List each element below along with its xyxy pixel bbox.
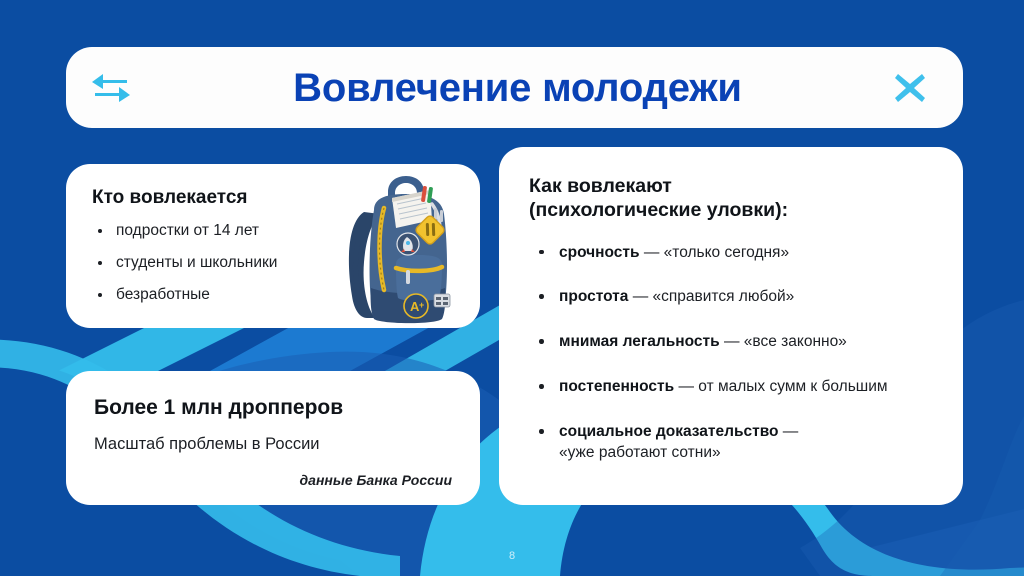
- page-number: 8: [0, 550, 1024, 562]
- svg-text:+: +: [419, 300, 424, 310]
- card-stat-subtitle: Масштаб проблемы в России: [94, 434, 452, 455]
- list-item-term: постепенность: [559, 378, 674, 395]
- list-item-rest: — от малых сумм к большим: [674, 378, 887, 395]
- list-item: срочность — «только сегодня»: [529, 243, 933, 264]
- list-item-term: социальное доказательство: [559, 423, 778, 440]
- card-how-title-line1: Как вовлекают: [529, 175, 672, 197]
- card-stat-source: данные Банка России: [94, 472, 452, 488]
- card-how-title-line2: (психологические уловки):: [529, 199, 788, 221]
- slide-header-bar: Вовлечение молодежи: [66, 47, 963, 128]
- card-statistic: Более 1 млн дропперов Масштаб проблемы в…: [66, 371, 480, 505]
- card-how-list: срочность — «только сегодня» простота — …: [529, 243, 933, 465]
- list-item: постепенность — от малых сумм к большим: [529, 377, 933, 398]
- list-item: мнимая легальность — «все законно»: [529, 332, 933, 353]
- transfer-arrows-icon[interactable]: [88, 68, 134, 108]
- list-item-term: простота: [559, 288, 628, 305]
- list-item-rest: — «все законно»: [720, 333, 847, 350]
- list-item-rest2: «уже работают сотни»: [559, 444, 721, 461]
- school-backpack-image: A +: [334, 168, 464, 332]
- list-item: простота — «справится любой»: [529, 287, 933, 308]
- close-cross-icon[interactable]: [889, 67, 931, 109]
- card-stat-title: Более 1 млн дропперов: [94, 395, 452, 420]
- list-item-rest: — «справится любой»: [628, 288, 794, 305]
- page-title: Вовлечение молодежи: [66, 68, 963, 108]
- list-item-term: срочность: [559, 244, 640, 261]
- list-item-rest: — «только сегодня»: [640, 244, 790, 261]
- list-item-rest: —: [778, 423, 798, 440]
- slide-root: Вовлечение молодежи Кто вовлекается подр…: [0, 0, 1024, 576]
- card-how-they-engage: Как вовлекают (психологические уловки): …: [499, 147, 963, 505]
- list-item-term: мнимая легальность: [559, 333, 720, 350]
- card-how-title: Как вовлекают (психологические уловки):: [529, 175, 933, 223]
- list-item: социальное доказательство — «уже работаю…: [529, 422, 933, 464]
